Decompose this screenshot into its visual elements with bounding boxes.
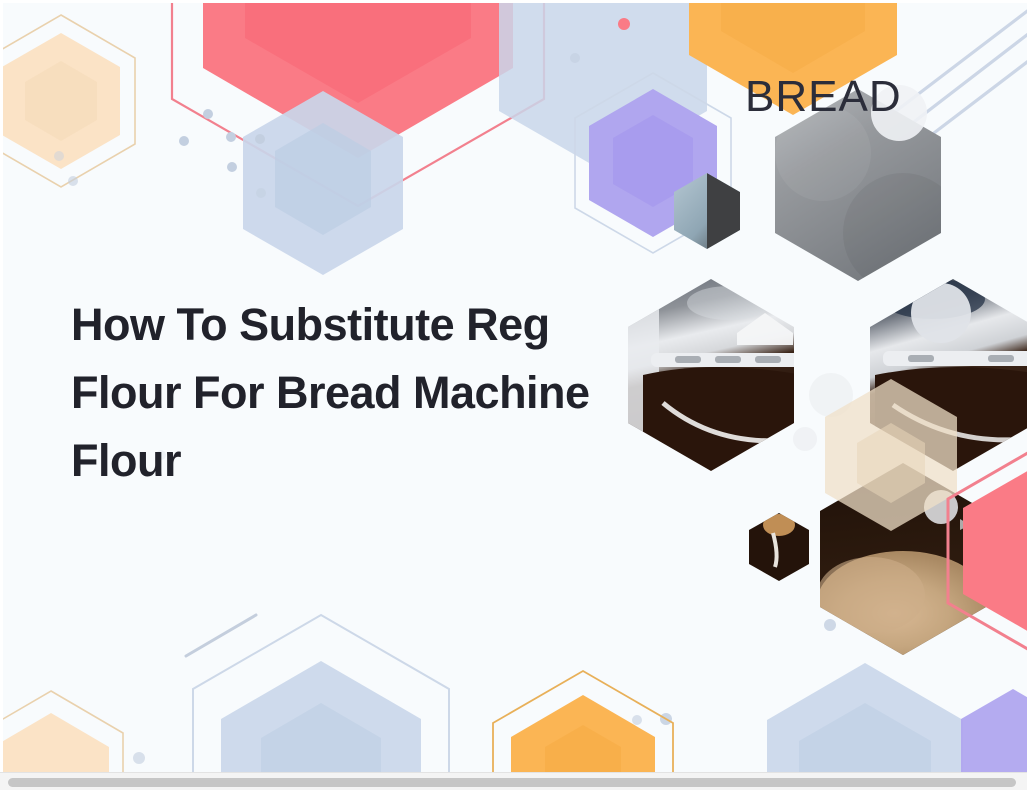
page-root: BREAD How To Substitute Reg Flour For Br… [0,0,1027,790]
horizontal-scrollbar-thumb[interactable] [8,778,1016,787]
article-hero-banner: BREAD How To Substitute Reg Flour For Br… [0,0,1027,772]
horizontal-scrollbar-track[interactable] [0,772,1027,790]
page-title: How To Substitute Reg Flour For Bread Ma… [71,291,651,495]
bokeh-circle [871,85,927,141]
hero-title-block: How To Substitute Reg Flour For Bread Ma… [71,291,651,495]
bokeh-circle [793,427,817,451]
